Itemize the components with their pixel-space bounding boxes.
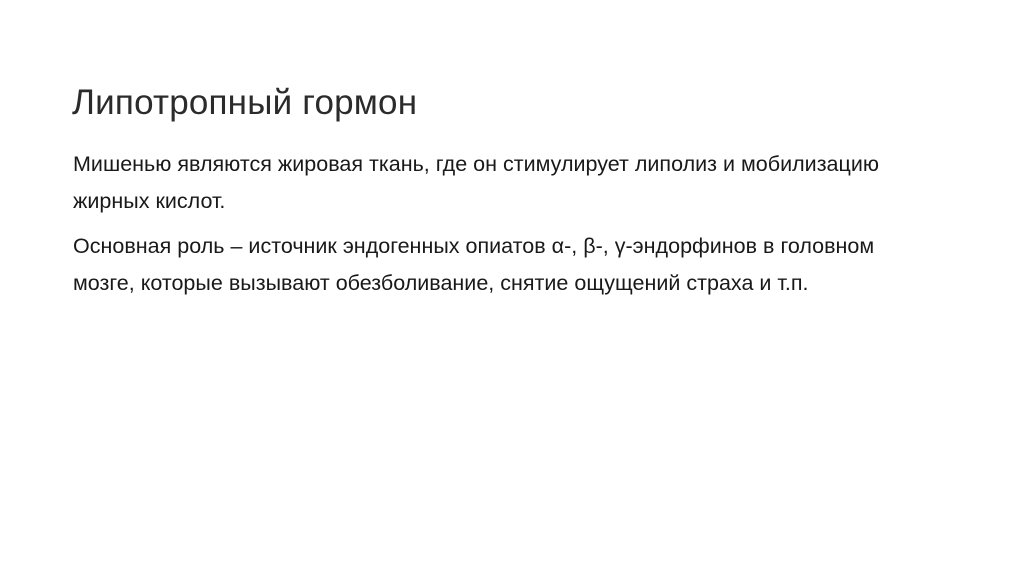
slide-canvas: Липотропный гормон Мишенью являются жиро… xyxy=(0,0,1024,574)
body-paragraph: Основная роль – источник эндогенных опиа… xyxy=(73,228,935,302)
body-paragraph: Мишенью являются жировая ткань, где он с… xyxy=(73,146,935,220)
slide-body: Мишенью являются жировая ткань, где он с… xyxy=(73,146,935,302)
page-title: Липотропный гормон xyxy=(72,81,952,125)
